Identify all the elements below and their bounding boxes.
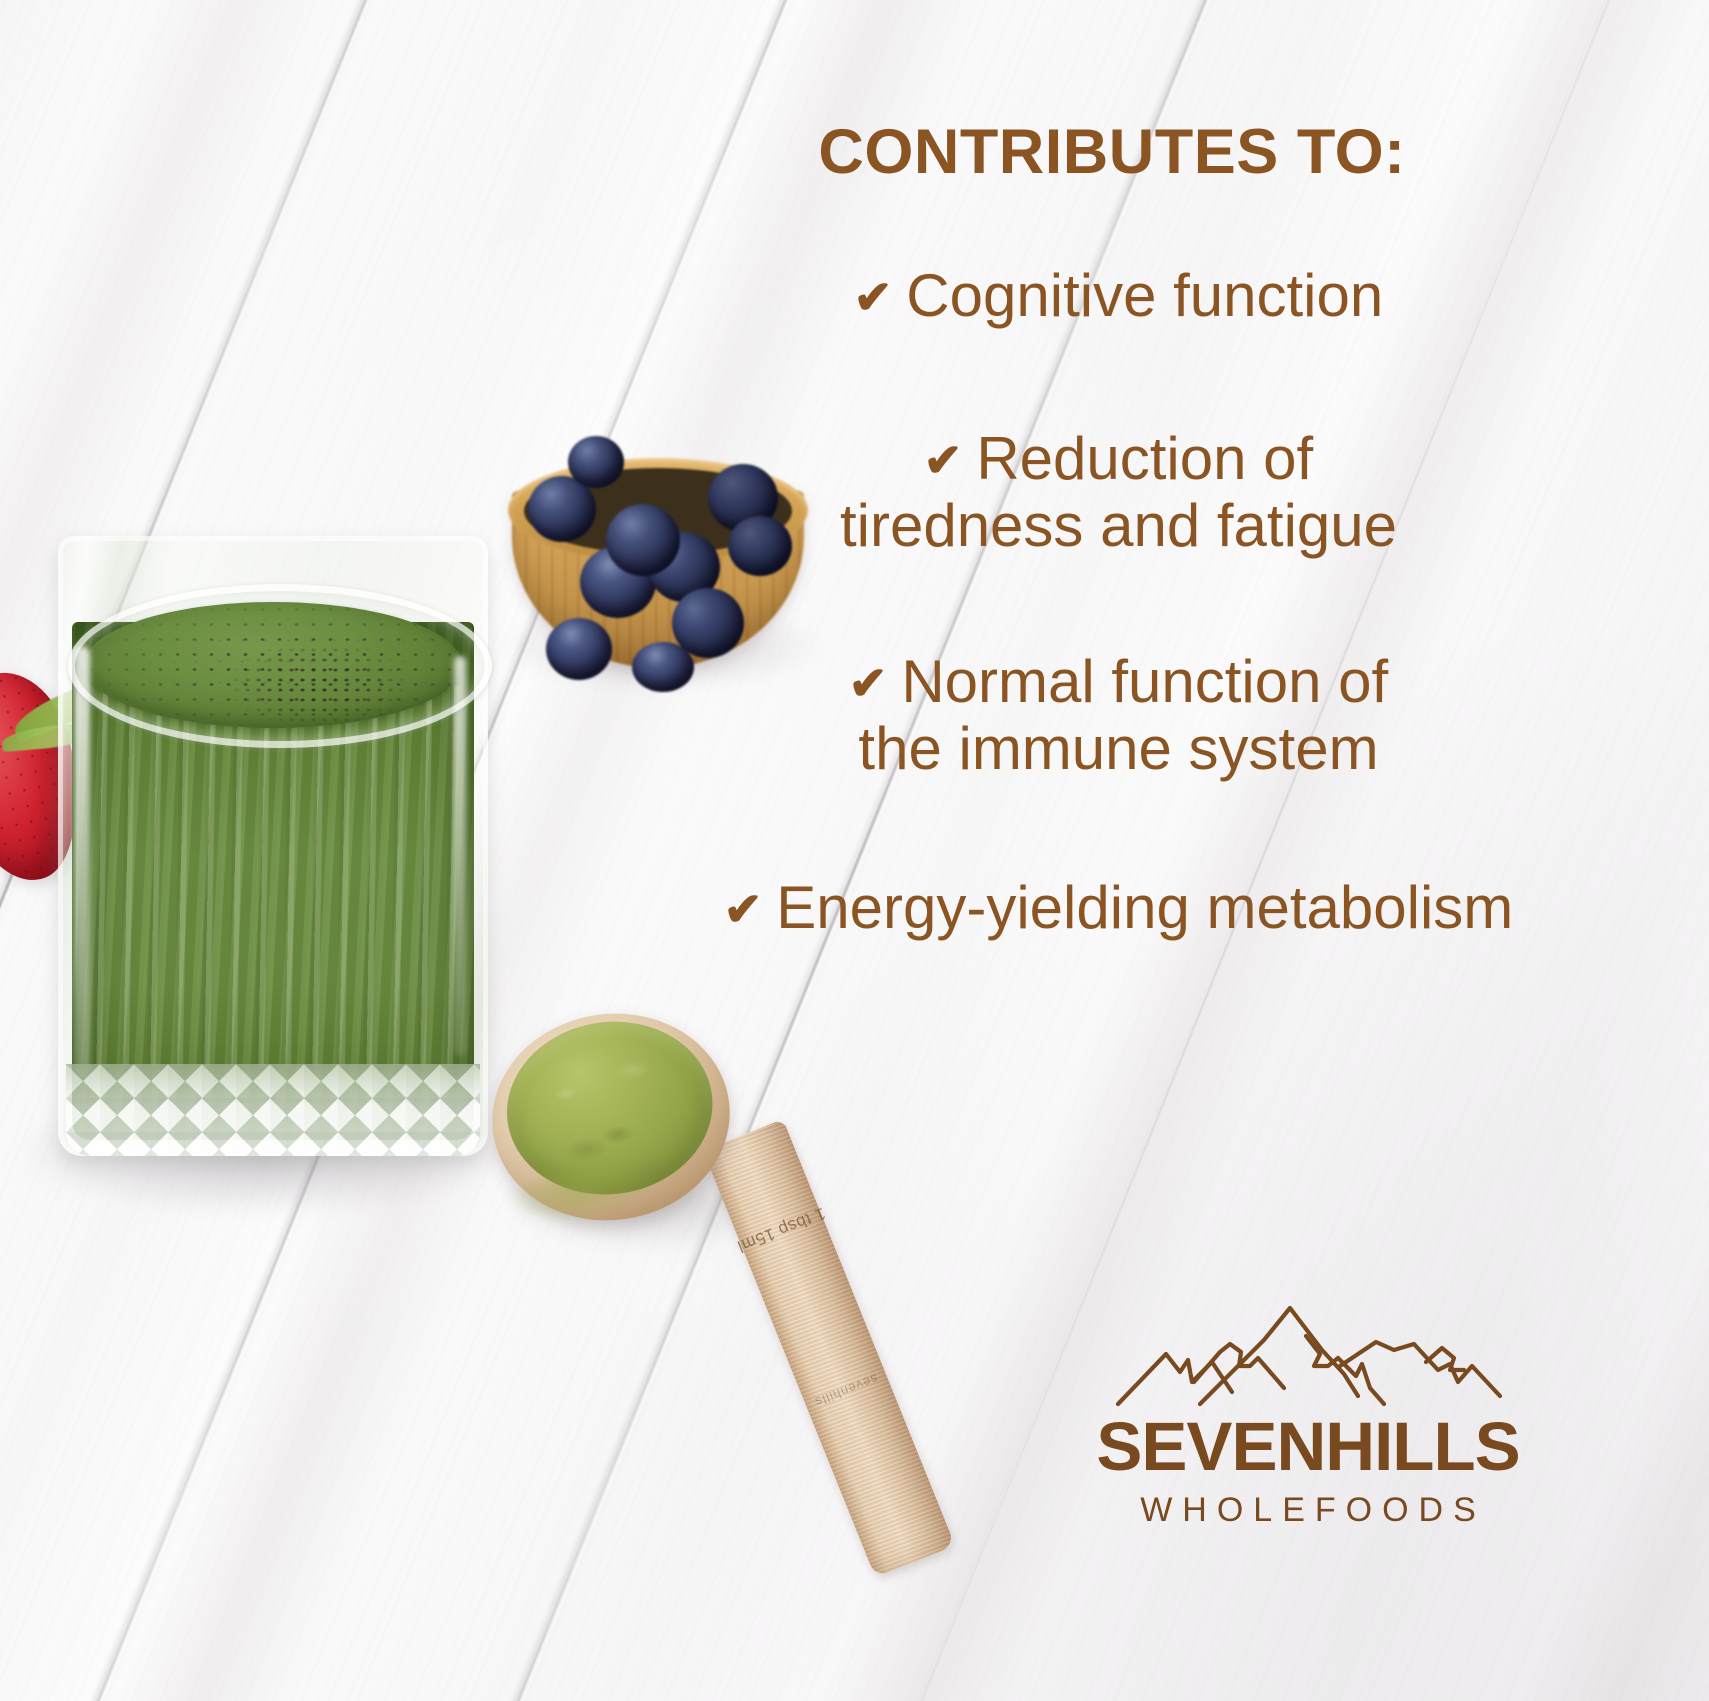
check-mark-icon: ✔	[724, 884, 763, 936]
glass-highlight	[454, 656, 466, 1056]
list-item-line: the immune system	[700, 715, 1537, 782]
list-item-line: ✔Reduction of	[700, 425, 1537, 492]
list-item-line: tiredness and fatigue	[700, 492, 1537, 559]
base-sheen	[66, 1064, 480, 1156]
blueberry	[632, 642, 694, 692]
list-item: ✔Cognitive function	[700, 262, 1537, 329]
list-item-label: Energy-yielding metabolism	[776, 874, 1513, 941]
logo-tagline: WHOLEFOODS	[1078, 1493, 1538, 1527]
glass-cut-crystal-base	[66, 1064, 480, 1156]
list-item-label: Cognitive function	[906, 262, 1383, 329]
list-item: ✔Normal function of the immune system	[700, 648, 1537, 782]
brand-logo: SEVENHILLS WHOLEFOODS	[1078, 1296, 1538, 1527]
promo-graphic: 1 tbsp 15ml sevenhills CONTRIBUTES TO: ✔…	[0, 0, 1709, 1701]
list-item: ✔Energy-yielding metabolism	[700, 874, 1537, 941]
smoothie-glass	[58, 536, 488, 1156]
logo-wordmark: SEVENHILLS	[1078, 1412, 1538, 1481]
mountain-range-icon	[1108, 1296, 1508, 1416]
benefits-list: ✔Cognitive function ✔Reduction of tiredn…	[700, 262, 1537, 941]
blueberry	[568, 436, 624, 488]
glass-highlight	[74, 646, 90, 1076]
page-title: CONTRIBUTES TO:	[700, 119, 1524, 185]
list-item-label: Normal function of	[901, 648, 1388, 715]
list-item-line: ✔Normal function of	[700, 648, 1537, 715]
list-item-label: Reduction of	[976, 425, 1313, 492]
check-mark-icon: ✔	[924, 435, 963, 487]
blueberry	[606, 504, 680, 576]
list-item: ✔Reduction of tiredness and fatigue	[700, 425, 1537, 559]
glass-rim	[68, 584, 492, 748]
blueberry	[546, 618, 612, 680]
check-mark-icon: ✔	[849, 658, 888, 710]
check-mark-icon: ✔	[854, 272, 893, 324]
